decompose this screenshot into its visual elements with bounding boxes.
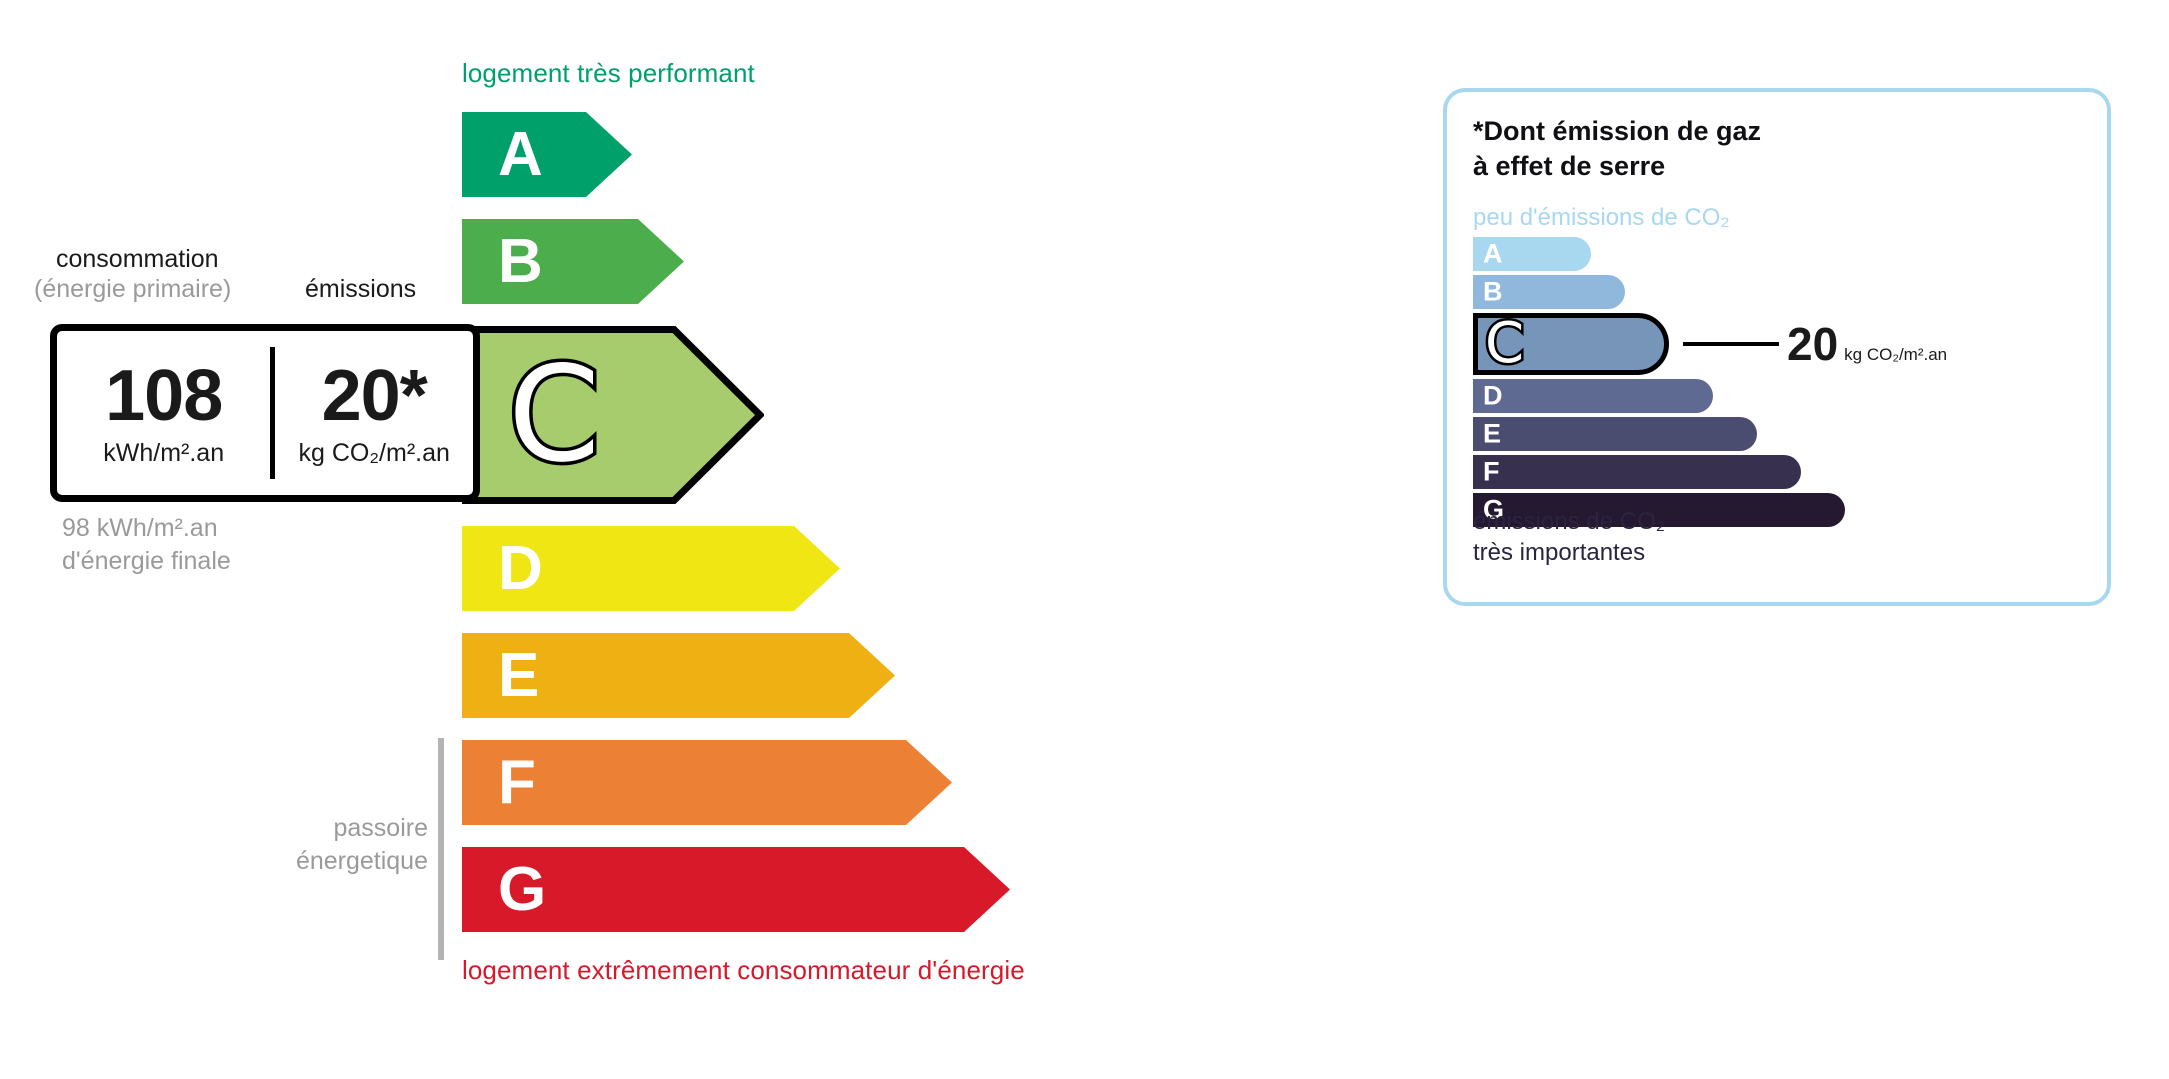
co2-bar-row-d: D — [1473, 379, 2093, 413]
emission-cell: 20* kg CO₂/m².an — [275, 331, 473, 495]
co2-bar-row-a: A — [1473, 237, 2093, 271]
co2-callout-value-group: 20kg CO₂/m².an — [1787, 321, 1947, 367]
value-box: 108 kWh/m².an 20* kg CO₂/m².an — [50, 324, 480, 502]
energy-bar-row-b: B — [462, 219, 1322, 304]
label-consumption-line2: (énergie primaire) — [34, 275, 231, 304]
energy-bar-f: F — [462, 740, 956, 825]
co2-callout-line — [1683, 342, 1779, 346]
label-emissions: émissions — [305, 275, 416, 304]
co2-bar-d — [1473, 379, 1713, 413]
chart-bottom-caption: logement extrêmement consommateur d'éner… — [462, 955, 1025, 986]
final-energy-note-line1: 98 kWh/m².an — [62, 512, 231, 545]
co2-emissions-panel: *Dont émission de gaz à effet de serre p… — [1443, 88, 2111, 606]
energy-bar-row-d: D — [462, 526, 1322, 611]
energy-bar-letter-a: A — [498, 124, 543, 186]
label-consumption-line1: consommation — [56, 245, 219, 274]
co2-bottom-caption: émissions de CO₂ très importantes — [1473, 506, 1665, 568]
co2-bottom-caption-line2: très importantes — [1473, 537, 1665, 568]
emission-value: 20* — [322, 360, 427, 432]
energy-bar-letter-e: E — [498, 645, 539, 707]
energy-bar-e: E — [462, 633, 899, 718]
energy-bar-letter-c: C — [508, 349, 600, 481]
co2-bar-letter-f: F — [1483, 459, 1500, 486]
co2-top-caption: peu d'émissions de CO₂ — [1473, 204, 1730, 232]
co2-bar-letter-d: D — [1483, 383, 1503, 410]
emission-unit: kg CO₂/m².an — [299, 441, 450, 466]
energy-bar-row-e: E — [462, 633, 1322, 718]
energy-bar-d: D — [462, 526, 844, 611]
chart-top-caption: logement très performant — [462, 58, 755, 89]
energy-bar-row-g: G — [462, 847, 1322, 932]
energy-bar-letter-b: B — [498, 231, 543, 293]
energy-bar-row-c: C — [462, 326, 1322, 504]
co2-panel-title: *Dont émission de gaz à effet de serre — [1473, 114, 1761, 183]
energy-bar-rows: ABCDEFG — [462, 112, 1322, 954]
energy-performance-chart: logement très performant ABCDEFG consomm… — [0, 0, 1320, 1079]
co2-bar-rows: ABC20kg CO₂/m².anDEFG — [1473, 237, 2093, 531]
co2-bar-row-f: F — [1473, 455, 2093, 489]
energy-bar-letter-g: G — [498, 859, 546, 921]
co2-panel-title-line1: *Dont émission de gaz — [1473, 114, 1761, 149]
primary-energy-value: 108 — [105, 360, 222, 432]
co2-bar-letter-a: A — [1483, 241, 1503, 268]
energy-bar-row-f: F — [462, 740, 1322, 825]
final-energy-note-line2: d'énergie finale — [62, 545, 231, 578]
energy-bar-a: A — [462, 112, 636, 197]
label-passoire: passoire énergetique — [250, 812, 428, 878]
co2-callout-unit: kg CO₂/m².an — [1844, 345, 1947, 364]
primary-energy-cell: 108 kWh/m².an — [57, 331, 270, 495]
final-energy-note: 98 kWh/m².an d'énergie finale — [62, 512, 231, 578]
co2-callout-value: 20 — [1787, 318, 1838, 370]
co2-bar-row-e: E — [1473, 417, 2093, 451]
energy-bar-letter-f: F — [498, 752, 536, 814]
co2-bar-letter-b: B — [1483, 279, 1503, 306]
energy-bar-row-a: A — [462, 112, 1322, 197]
co2-bar-e — [1473, 417, 1757, 451]
co2-bar-letter-e: E — [1483, 421, 1501, 448]
energy-bar-g: G — [462, 847, 1014, 932]
label-passoire-line1: passoire — [250, 812, 428, 845]
primary-energy-unit: kWh/m².an — [103, 441, 224, 466]
co2-bottom-caption-line1: émissions de CO₂ — [1473, 506, 1665, 537]
co2-bar-row-c: C20kg CO₂/m².an — [1473, 313, 2093, 375]
energy-bar-b: B — [462, 219, 688, 304]
co2-bar-letter-c: C — [1485, 316, 1524, 372]
co2-panel-title-line2: à effet de serre — [1473, 149, 1761, 184]
co2-bar-f — [1473, 455, 1801, 489]
co2-bar-row-b: B — [1473, 275, 2093, 309]
label-passoire-line2: énergetique — [250, 845, 428, 878]
passoire-bracket — [438, 738, 444, 960]
energy-bar-letter-d: D — [498, 538, 543, 600]
energy-bar-c: C — [462, 326, 764, 504]
